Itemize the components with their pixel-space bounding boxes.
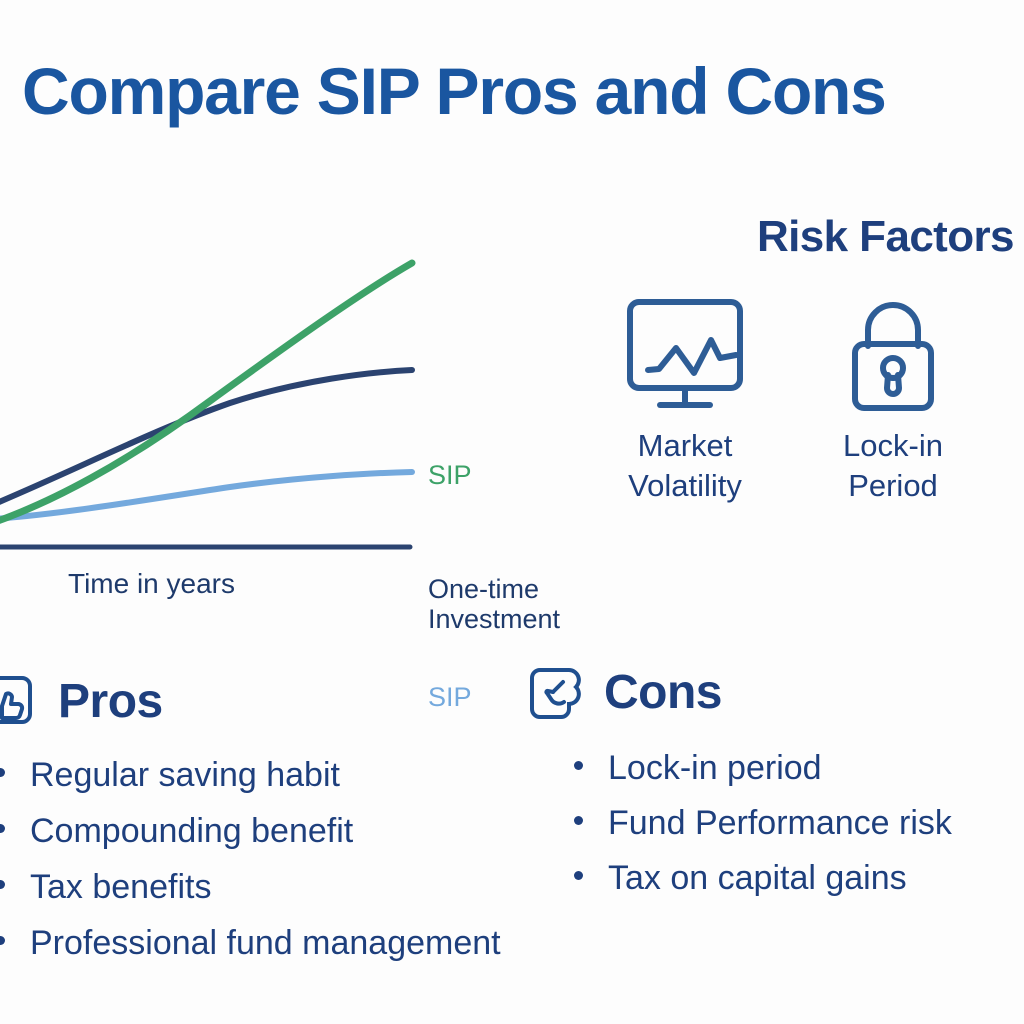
cons-list: Lock-in period Fund Performance risk Tax… xyxy=(574,751,1024,895)
bullet-dot-icon xyxy=(574,871,583,880)
list-item: Tax benefits xyxy=(0,870,602,904)
bullet-dot-icon xyxy=(0,824,5,833)
thumbs-down-badge-icon xyxy=(528,665,584,721)
thumbs-up-badge-icon xyxy=(0,672,38,728)
bullet-dot-icon xyxy=(0,880,5,889)
bullet-dot-icon xyxy=(574,816,583,825)
pros-header: Pros xyxy=(0,672,602,728)
pros-item-text: Tax benefits xyxy=(30,870,211,904)
pros-list: Regular saving habit Compounding benefit… xyxy=(0,758,602,960)
chart-svg xyxy=(0,215,520,560)
cons-header: Cons xyxy=(528,665,1024,721)
x-axis-title: Time in years xyxy=(68,568,235,600)
list-item: Fund Performance risk xyxy=(574,806,1024,840)
list-item: Tax on capital gains xyxy=(574,861,1024,895)
bullet-dot-icon xyxy=(574,761,583,770)
pros-item-text: Professional fund management xyxy=(30,926,501,960)
series-label-sip-green: SIP xyxy=(428,460,472,490)
series-line-sip-green xyxy=(0,263,412,527)
list-item: Lock-in period xyxy=(574,751,1024,785)
monitor-chart-icon xyxy=(570,296,800,416)
risk-label-lock-in-period: Lock-in Period xyxy=(778,426,1008,505)
pros-item-text: Compounding benefit xyxy=(30,814,353,848)
cons-section: Cons Lock-in period Fund Performance ris… xyxy=(528,665,1024,916)
pros-title: Pros xyxy=(58,678,163,726)
risk-item-market-volatility: Market Volatility xyxy=(570,296,800,505)
cons-item-text: Fund Performance risk xyxy=(608,806,952,840)
risk-item-lock-in-period: Lock-in Period xyxy=(778,296,1008,505)
list-item: Professional fund management xyxy=(0,926,602,960)
risk-label-market-volatility: Market Volatility xyxy=(570,426,800,505)
cons-item-text: Tax on capital gains xyxy=(608,861,907,895)
cons-item-text: Lock-in period xyxy=(608,751,822,785)
cons-title: Cons xyxy=(604,669,722,717)
series-label-one-time-investment: One-time Investment xyxy=(428,574,618,634)
pros-section: Pros Regular saving habit Compounding be… xyxy=(0,672,602,982)
growth-chart: SIP One-time Investment SIP xyxy=(0,215,520,560)
page-title: Compare SIP Pros and Cons xyxy=(22,58,886,124)
list-item: Compounding benefit xyxy=(0,814,602,848)
bullet-dot-icon xyxy=(0,768,5,777)
infographic-canvas: Compare SIP Pros and Cons SIP One-time I… xyxy=(0,0,1024,1024)
risk-factors-heading: Risk Factors xyxy=(757,212,1014,262)
list-item: Regular saving habit xyxy=(0,758,602,792)
bullet-dot-icon xyxy=(0,936,5,945)
pros-item-text: Regular saving habit xyxy=(30,758,340,792)
padlock-icon xyxy=(778,296,1008,416)
